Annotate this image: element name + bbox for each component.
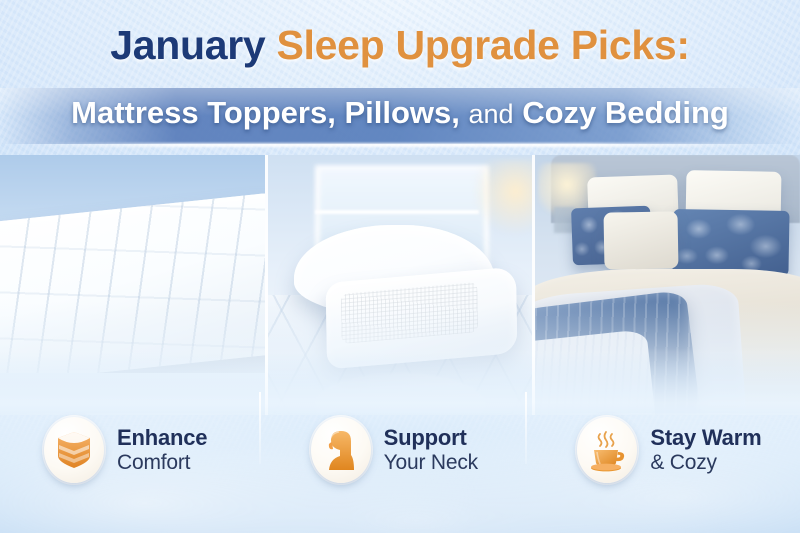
panel-3-euro-pillow xyxy=(604,212,679,270)
poster-header: January Sleep Upgrade Picks: Mattress To… xyxy=(0,0,800,155)
badge-enhance-comfort: Enhance Comfort xyxy=(0,400,267,500)
badge-support-your-neck-text: Support Your Neck xyxy=(384,426,478,474)
badge-line1: Stay Warm xyxy=(650,426,761,451)
subtitle-part1: Mattress Toppers, Pillows, xyxy=(71,95,460,130)
mattress-layers-icon xyxy=(44,417,104,483)
head-neck-profile-icon xyxy=(311,417,371,483)
panel-3-floral-pillow-right xyxy=(672,209,790,276)
sleep-upgrade-poster: January Sleep Upgrade Picks: Mattress To… xyxy=(0,0,800,533)
page-subtitle: Mattress Toppers, Pillows, and Cozy Bedd… xyxy=(0,95,800,131)
steaming-cup-icon xyxy=(577,417,637,483)
badge-line1: Support xyxy=(384,426,478,451)
badge-line2: Your Neck xyxy=(384,451,478,475)
badge-stay-warm-cozy: Stay Warm & Cozy xyxy=(533,400,800,500)
badge-line2: & Cozy xyxy=(650,451,761,475)
badge-line2: Comfort xyxy=(117,451,207,475)
badge-line1: Enhance xyxy=(117,426,207,451)
benefit-badges: Enhance Comfort Support xyxy=(0,400,800,500)
title-month: January xyxy=(110,22,265,68)
badge-enhance-comfort-text: Enhance Comfort xyxy=(117,426,207,474)
badge-stay-warm-cozy-text: Stay Warm & Cozy xyxy=(650,426,761,474)
badge-support-your-neck: Support Your Neck xyxy=(267,400,534,500)
subtitle-conjunction: and xyxy=(469,99,514,129)
subtitle-part2: Cozy Bedding xyxy=(522,95,729,130)
title-rest: Sleep Upgrade Picks: xyxy=(276,22,689,68)
panel-2-lamp-glow xyxy=(474,160,532,238)
panel-2-window-bar xyxy=(315,210,479,214)
page-title: January Sleep Upgrade Picks: xyxy=(0,22,800,69)
panel-3-floral-pattern-right xyxy=(672,209,790,276)
